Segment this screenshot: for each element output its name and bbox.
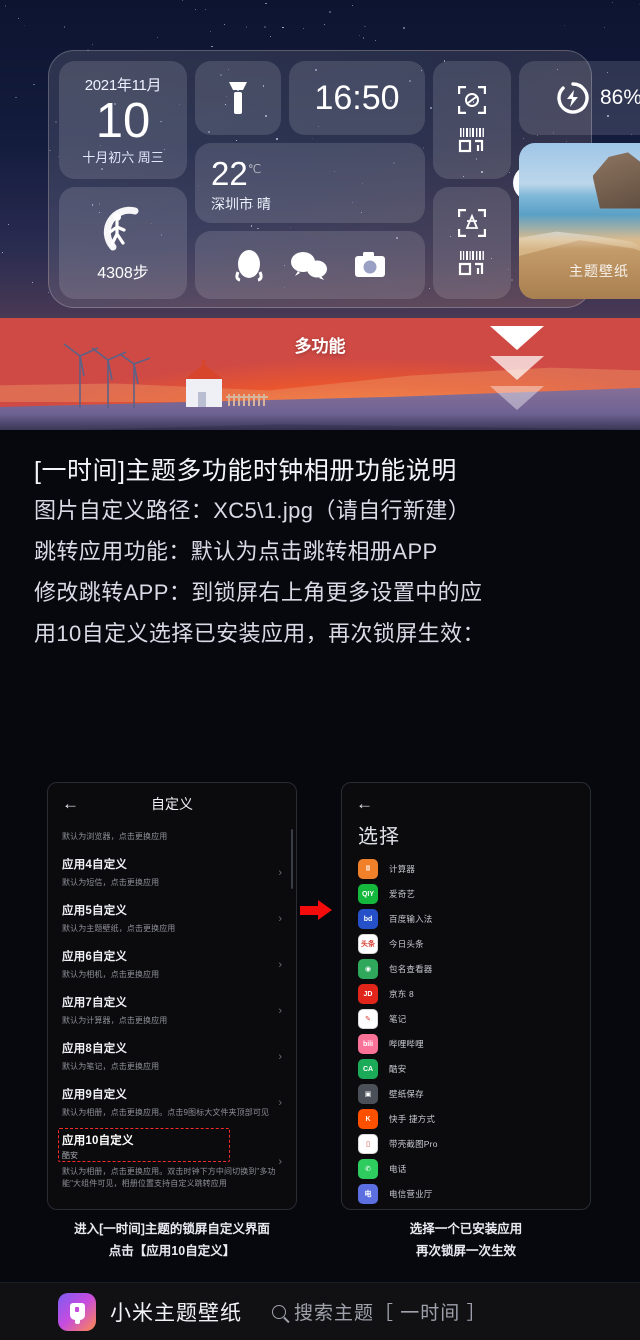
app-icon: ✎ <box>358 1009 378 1029</box>
search-icon <box>272 1305 286 1319</box>
lockscreen-widget-card: 2021年11月 10 十月初六 周三 16:50 <box>48 50 592 308</box>
caption-right: 选择一个已安装应用 再次锁屏一次生效 <box>341 1218 591 1262</box>
star <box>33 84 34 85</box>
mi-theme-icon[interactable] <box>58 1293 96 1331</box>
scan-document-icon <box>458 209 486 237</box>
chevron-right-icon: › <box>278 1097 282 1109</box>
steps-count: 4308步 <box>97 259 149 283</box>
phone-right-app-picker: ← 选择 ⠿计算器QIY爱奇艺bd百度输入法头条今日头条◉包名查看器JD京东 8… <box>341 782 591 1210</box>
star <box>195 9 196 10</box>
customize-row[interactable]: 应用10自定义酷安默认为相册，点击更换应用。双击时钟下方中间切换到"多功能"大组… <box>62 1126 282 1197</box>
app-list-item[interactable]: ✎笔记 <box>358 1007 576 1032</box>
app-list-item[interactable]: ▯带壳截图Pro <box>358 1132 576 1157</box>
star <box>352 5 353 6</box>
app-icon: bili <box>358 1034 378 1054</box>
customize-row[interactable]: 应用6自定义默认为相机，点击更换应用› <box>62 942 282 988</box>
chevron-right-icon: › <box>278 959 282 971</box>
app-name: 笔记 <box>389 1013 406 1025</box>
chevron-right-icon: › <box>278 1051 282 1063</box>
qq-icon <box>234 248 264 282</box>
weather-tile[interactable]: 22℃ 深圳市 晴 <box>195 143 425 223</box>
footer-bar: 小米主题壁纸 搜索主题［ 一时间 ］ <box>0 1282 640 1340</box>
battery-tile[interactable]: 86% <box>519 61 640 135</box>
row-title: 应用4自定义 <box>62 856 282 872</box>
app-name: 哔哩哔哩 <box>389 1038 424 1050</box>
app-list-item[interactable]: JD京东 8 <box>358 982 576 1007</box>
left-phone-title: 自定义 <box>48 794 296 814</box>
app-list-item[interactable]: 头条今日头条 <box>358 932 576 957</box>
app-name: 计算器 <box>389 863 415 875</box>
back-arrow-icon[interactable]: ← <box>356 795 373 812</box>
row-title: 应用6自定义 <box>62 948 282 964</box>
star <box>359 35 360 36</box>
scrollbar[interactable] <box>291 829 293 889</box>
app-icon: ▣ <box>358 1084 378 1104</box>
row-subtitle: 默认为短信，点击更换应用 <box>62 877 282 889</box>
app-name: 电信营业厅 <box>389 1188 433 1200</box>
caption-right-line1: 选择一个已安装应用 <box>341 1218 591 1240</box>
star <box>564 25 565 26</box>
star <box>282 27 283 28</box>
search-box[interactable]: 搜索主题［ 一时间 ］ <box>272 1298 487 1325</box>
surf-shape <box>519 224 640 249</box>
cliff-shape <box>593 152 640 208</box>
app-name: 爱奇艺 <box>389 888 415 900</box>
app-name-label: 小米主题壁纸 <box>110 1297 242 1327</box>
chevron-down-icon <box>490 326 544 350</box>
hero-starry-section: 2021年11月 10 十月初六 周三 16:50 <box>0 0 640 320</box>
star <box>264 26 266 28</box>
customize-row[interactable]: 应用4自定义默认为短信，点击更换应用› <box>62 850 282 896</box>
installed-app-list: ⠿计算器QIY爱奇艺bd百度输入法头条今日头条◉包名查看器JD京东 8✎笔记bi… <box>342 857 590 1210</box>
date-lunar: 十月初六 周三 <box>82 147 164 166</box>
customize-row[interactable]: 默认为浏览器，点击更换应用 <box>62 820 282 850</box>
customize-row[interactable]: 应用7自定义默认为计算器，点击更换应用› <box>62 988 282 1034</box>
flashlight-tile[interactable] <box>195 61 281 135</box>
star <box>303 28 304 29</box>
star <box>18 18 19 19</box>
star <box>64 26 65 27</box>
app-list-item[interactable]: ▣壁纸保存 <box>358 1082 576 1107</box>
app-list-item[interactable]: ✉电子邮件 <box>358 1207 576 1210</box>
desc-line-3: 修改跳转APP：到锁屏右上角更多设置中的应 <box>34 572 606 613</box>
desc-line-2: 跳转应用功能：默认为点击跳转相册APP <box>34 531 606 572</box>
photo-tile-label: 主题壁纸 <box>519 261 640 281</box>
chevron-down-icon <box>490 386 544 410</box>
row-subtitle: 默认为计算器，点击更换应用 <box>62 1015 282 1027</box>
highlight-box <box>58 1128 230 1162</box>
weather-temp: 22 <box>211 155 248 192</box>
caption-right-line2: 再次锁屏一次生效 <box>341 1240 591 1262</box>
app-list-item[interactable]: QIY爱奇艺 <box>358 882 576 907</box>
scan-face-icon <box>458 86 486 114</box>
app-icon: K <box>358 1109 378 1129</box>
app-icon: QIY <box>358 884 378 904</box>
row-subtitle: 默认为主题壁纸，点击更换应用 <box>62 923 282 935</box>
flashlight-icon <box>227 81 249 115</box>
star <box>157 37 158 38</box>
app-name: 包名查看器 <box>389 963 433 975</box>
app-name: 壁纸保存 <box>389 1088 424 1100</box>
caption-left-line1: 进入[一时间]主题的锁屏自定义界面 <box>47 1218 297 1240</box>
app-icon: ▯ <box>358 1134 378 1154</box>
app-list-item[interactable]: K快手 捷方式 <box>358 1107 576 1132</box>
row-subtitle: 默认为相机，点击更换应用 <box>62 969 282 981</box>
row-subtitle: 默认为相册，点击更换应用。点击9图标大文件夹顶部可见 <box>62 1107 282 1119</box>
app-list-item[interactable]: ◉包名查看器 <box>358 957 576 982</box>
chevron-right-icon: › <box>278 1156 282 1168</box>
gradient-fade <box>0 414 640 454</box>
chevron-right-icon: › <box>278 913 282 925</box>
right-phone-header: ← <box>342 783 590 816</box>
customize-row[interactable]: 应用8自定义默认为笔记，点击更换应用› <box>62 1034 282 1080</box>
star <box>210 31 211 32</box>
phone-left-customize-screen: ← 自定义 默认为浏览器，点击更换应用应用4自定义默认为短信，点击更换应用›应用… <box>47 782 297 1210</box>
app-name: 京东 8 <box>389 988 414 1000</box>
app-list-item[interactable]: CA酷安 <box>358 1057 576 1082</box>
app-icon: 电 <box>358 1184 378 1204</box>
customize-row-list: 默认为浏览器，点击更换应用应用4自定义默认为短信，点击更换应用›应用5自定义默认… <box>48 816 296 1197</box>
caption-left-line2: 点击【应用10自定义】 <box>47 1240 297 1262</box>
date-year-month: 2021年11月 <box>85 74 162 95</box>
star <box>265 3 266 4</box>
app-name: 带壳截图Pro <box>389 1138 438 1150</box>
star <box>270 36 271 37</box>
star <box>5 5 7 7</box>
customize-row[interactable]: 应用9自定义默认为相册，点击更换应用。点击9图标大文件夹顶部可见› <box>62 1080 282 1126</box>
right-phone-title: 选择 <box>342 816 590 857</box>
row-subtitle: 默认为笔记，点击更换应用 <box>62 1061 282 1073</box>
row-title: 应用8自定义 <box>62 1040 282 1056</box>
caption-row: 进入[一时间]主题的锁屏自定义界面 点击【应用10自定义】 选择一个已安装应用 … <box>0 1218 640 1280</box>
chevron-down-icon <box>490 356 544 380</box>
barcode-icon <box>458 249 486 277</box>
desc-line-1: 图片自定义路径：XC5\1.jpg（请自行新建） <box>34 490 606 531</box>
star <box>92 44 93 45</box>
app-list-item[interactable]: ⠿计算器 <box>358 857 576 882</box>
barcode-icon <box>458 126 486 154</box>
date-tile[interactable]: 2021年11月 10 十月初六 周三 <box>59 61 187 179</box>
app-list-item[interactable]: bd百度输入法 <box>358 907 576 932</box>
clock-tile[interactable]: 16:50 <box>289 61 425 135</box>
search-text: 搜索主题［ 一时间 ］ <box>294 1298 487 1325</box>
star <box>24 25 25 26</box>
app-icon: ⠿ <box>358 859 378 879</box>
app-icon: bd <box>358 909 378 929</box>
star <box>364 26 366 28</box>
app-icon: ✆ <box>358 1159 378 1179</box>
chevron-right-icon: › <box>278 1005 282 1017</box>
row-subtitle: 默认为相册，点击更换应用。双击时钟下方中间切换到"多功能"大组件可见，相册位置支… <box>62 1166 282 1190</box>
customize-row[interactable]: 应用5自定义默认为主题壁纸，点击更换应用› <box>62 896 282 942</box>
caption-left: 进入[一时间]主题的锁屏自定义界面 点击【应用10自定义】 <box>47 1218 297 1262</box>
star <box>8 224 9 225</box>
scan-tile-top[interactable] <box>433 61 511 179</box>
farmhouse-icon <box>178 358 298 414</box>
app-list-item[interactable]: ✆电话 <box>358 1157 576 1182</box>
row-title: 应用5自定义 <box>62 902 282 918</box>
star <box>375 40 376 41</box>
app-name: 酷安 <box>389 1063 406 1075</box>
battery-charging-icon <box>556 81 590 115</box>
app-name: 百度输入法 <box>389 913 433 925</box>
walking-person-icon <box>93 203 153 255</box>
app-icon: CA <box>358 1059 378 1079</box>
wechat-icon <box>290 250 328 280</box>
app-name: 今日头条 <box>389 938 424 950</box>
star <box>32 282 33 283</box>
page-title: [一时间]主题多功能时钟相册功能说明 <box>34 452 606 490</box>
poster-page: 2021年11月 10 十月初六 周三 16:50 <box>0 0 640 1340</box>
star <box>329 11 331 13</box>
left-phone-header: ← 自定义 <box>48 783 296 816</box>
phone-screenshots: ← 自定义 默认为浏览器，点击更换应用应用4自定义默认为短信，点击更换应用›应用… <box>0 782 640 1212</box>
star <box>363 37 364 38</box>
chevron-right-icon: › <box>278 867 282 879</box>
star <box>403 27 404 28</box>
app-name: 快手 捷方式 <box>389 1113 435 1125</box>
star <box>2 252 3 253</box>
app-list-item[interactable]: 电电信营业厅 <box>358 1182 576 1207</box>
weather-city-cond: 深圳市 晴 <box>211 194 271 214</box>
social-shortcuts-tile[interactable] <box>195 231 425 299</box>
steps-tile[interactable]: 4308步 <box>59 187 187 299</box>
app-icon: 头条 <box>358 934 378 954</box>
star <box>182 0 183 1</box>
app-list-item[interactable]: bili哔哩哔哩 <box>358 1032 576 1057</box>
battery-percent: 86% <box>600 86 640 110</box>
red-arrow-icon <box>300 900 334 920</box>
star <box>211 46 212 47</box>
star <box>324 24 325 25</box>
photo-tile[interactable]: 主题壁纸 <box>519 143 640 299</box>
app-name: 电话 <box>389 1163 406 1175</box>
app-icon: ✉ <box>358 1209 378 1210</box>
weather-unit: ℃ <box>248 162 261 176</box>
star <box>604 27 605 28</box>
star <box>15 97 16 98</box>
star <box>612 2 613 3</box>
down-chevrons-group <box>490 326 546 416</box>
scan-tile-bottom[interactable] <box>433 187 511 299</box>
row-title: 应用7自定义 <box>62 994 282 1010</box>
description-block: [一时间]主题多功能时钟相册功能说明 图片自定义路径：XC5\1.jpg（请自行… <box>0 430 640 654</box>
date-day: 10 <box>96 95 151 147</box>
row-subtitle: 默认为浏览器，点击更换应用 <box>62 831 282 843</box>
app-icon: ◉ <box>358 959 378 979</box>
camera-icon <box>354 251 386 279</box>
star <box>205 9 207 11</box>
desc-line-4: 用10自定义选择已安装应用，再次锁屏生效： <box>34 613 606 654</box>
star <box>246 26 247 27</box>
row-title: 应用9自定义 <box>62 1086 282 1102</box>
app-icon: JD <box>358 984 378 1004</box>
star <box>224 24 225 25</box>
